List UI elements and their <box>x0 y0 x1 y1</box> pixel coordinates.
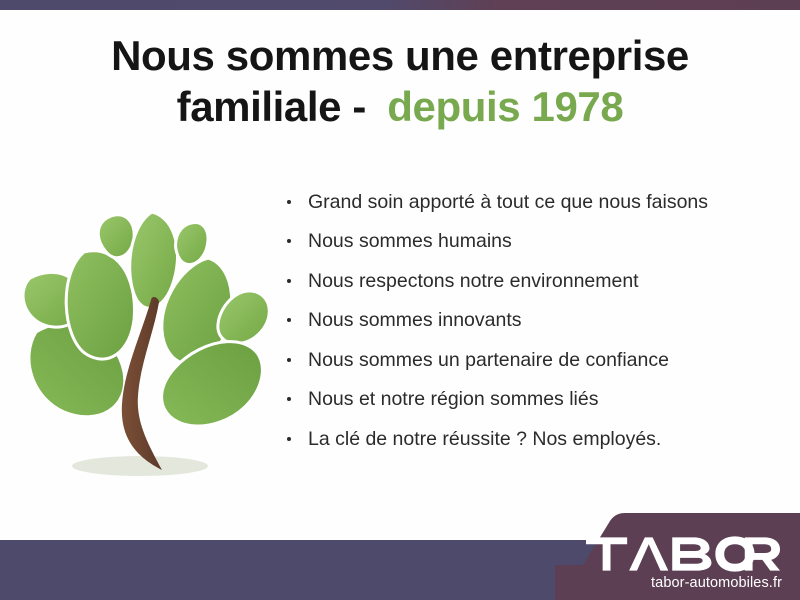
value-bullet-list: Grand soin apporté à tout ce que nous fa… <box>282 190 782 452</box>
title-accent-year: depuis 1978 <box>387 83 623 130</box>
list-item-label: Nous sommes innovants <box>308 309 522 331</box>
brand-url[interactable]: tabor-automobiles.fr <box>572 575 782 592</box>
list-item-label: Nous sommes humains <box>308 230 512 252</box>
title-line-1: Nous sommes une entreprise <box>0 32 800 81</box>
list-item: La clé de notre réussite ? Nos employés. <box>282 427 782 452</box>
bullet-dot-icon <box>287 318 291 322</box>
top-accent-strip <box>0 0 800 10</box>
title-dash: - <box>352 83 376 130</box>
list-item-label: Nous sommes un partenaire de confiance <box>308 349 669 371</box>
bullet-dot-icon <box>287 239 291 243</box>
list-item: Nous et notre région sommes liés <box>282 387 782 412</box>
bullet-dot-icon <box>287 279 291 283</box>
tree-illustration <box>12 182 284 494</box>
brand-logo[interactable]: tabor-automobiles.fr <box>572 534 782 592</box>
page-title: Nous sommes une entreprise familiale - d… <box>0 32 800 131</box>
list-item: Nous sommes un partenaire de confiance <box>282 348 782 373</box>
title-line-2-main: familiale <box>177 83 341 130</box>
list-item: Nous sommes innovants <box>282 308 782 333</box>
tree-shadow <box>72 456 208 476</box>
list-item: Nous sommes humains <box>282 229 782 254</box>
bullet-dot-icon <box>287 437 291 441</box>
list-item-label: Nous et notre région sommes liés <box>308 388 598 410</box>
slide-canvas: Nous sommes une entreprise familiale - d… <box>0 0 800 600</box>
bullet-dot-icon <box>287 397 291 401</box>
tabor-wordmark-icon <box>572 534 782 574</box>
list-item-label: La clé de notre réussite ? Nos employés. <box>308 428 661 450</box>
list-item-label: Grand soin apporté à tout ce que nous fa… <box>308 191 708 213</box>
title-line-2: familiale - depuis 1978 <box>0 83 800 132</box>
bullet-dot-icon <box>287 200 291 204</box>
list-item: Grand soin apporté à tout ce que nous fa… <box>282 190 782 215</box>
bullet-dot-icon <box>287 358 291 362</box>
list-item: Nous respectons notre environnement <box>282 269 782 294</box>
list-item-label: Nous respectons notre environnement <box>308 270 639 292</box>
